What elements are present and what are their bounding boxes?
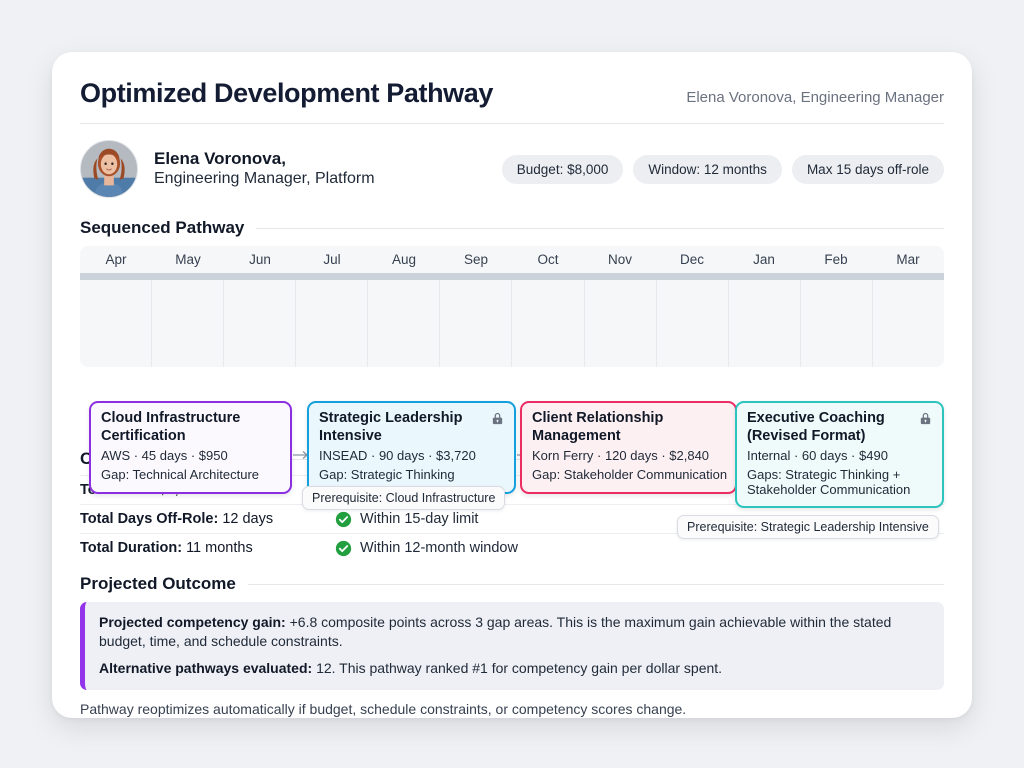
gridline [152, 280, 224, 367]
gridline [873, 280, 944, 367]
timeline: AprMayJunJulAugSepOctNovDecJanFebMar Clo… [80, 246, 944, 367]
course-card[interactable]: Client Relationship ManagementKorn Ferry… [520, 401, 737, 494]
course-title: Cloud Infrastructure Certification [101, 410, 280, 445]
course-meta: Korn Ferry · 120 days · $2,840 [532, 448, 725, 464]
month-label-nov: Nov [584, 246, 656, 273]
lock-icon [918, 411, 933, 426]
pathway-heading: Sequenced Pathway [80, 218, 244, 238]
constraint-label: Total Days Off-Role: 12 days [80, 511, 335, 527]
month-label-dec: Dec [656, 246, 728, 273]
course-card[interactable]: Executive Coaching (Revised Format)Inter… [735, 401, 944, 508]
gridline [585, 280, 657, 367]
course-title: Strategic Leadership Intensive [319, 410, 504, 445]
course-title: Client Relationship Management [532, 410, 725, 445]
gridline [657, 280, 729, 367]
header-divider [80, 123, 944, 124]
course-gap: Gaps: Strategic Thinking + Stakeholder C… [747, 467, 932, 499]
month-label-sep: Sep [440, 246, 512, 273]
outcome-heading: Projected Outcome [80, 574, 236, 594]
month-label-apr: Apr [80, 246, 152, 273]
prerequisite-pill: Prerequisite: Cloud Infrastructure [302, 486, 505, 510]
timeline-gridlines [80, 280, 944, 367]
month-label-feb: Feb [800, 246, 872, 273]
timeline-track [80, 273, 944, 280]
constraint-label: Total Duration: 11 months [80, 540, 335, 556]
prerequisite-pill: Prerequisite: Strategic Leadership Inten… [677, 515, 939, 539]
constraint-status-text: Within 12-month window [360, 540, 518, 556]
outcome-panel: Projected competency gain: +6.8 composit… [80, 602, 944, 690]
chip-budget: Budget: $8,000 [502, 155, 624, 184]
outcome-gain-label: Projected competency gain: [99, 614, 286, 630]
user-avatar-photo-icon [81, 141, 137, 197]
gridline [80, 280, 152, 367]
lock-icon [490, 411, 505, 426]
constraint-chips: Budget: $8,000 Window: 12 months Max 15 … [502, 155, 944, 184]
chip-max-days: Max 15 days off-role [792, 155, 944, 184]
person-name: Elena Voronova, [154, 148, 375, 169]
month-label-may: May [152, 246, 224, 273]
outcome-gain: Projected competency gain: +6.8 composit… [99, 613, 930, 652]
course-gap: Gap: Technical Architecture [101, 467, 280, 483]
course-meta: INSEAD · 90 days · $3,720 [319, 448, 504, 464]
pathway-heading-rule [256, 228, 944, 229]
course-title: Executive Coaching (Revised Format) [747, 410, 932, 445]
outcome-footer-note: Pathway reoptimizes automatically if bud… [80, 701, 944, 717]
course-card[interactable]: Cloud Infrastructure CertificationAWS · … [89, 401, 292, 494]
outcome-alt-label: Alternative pathways evaluated: [99, 660, 312, 676]
page-header: Optimized Development Pathway Elena Voro… [80, 78, 944, 109]
check-circle-icon [335, 511, 352, 528]
gridline [512, 280, 584, 367]
gridline [368, 280, 440, 367]
gridline [296, 280, 368, 367]
timeline-month-labels: AprMayJunJulAugSepOctNovDecJanFebMar [80, 246, 944, 273]
outcome-alternatives: Alternative pathways evaluated: 12. This… [99, 659, 930, 678]
person-role: Engineering Manager, Platform [154, 169, 375, 190]
month-label-mar: Mar [872, 246, 944, 273]
outcome-section-header: Projected Outcome [80, 574, 944, 594]
gridline [224, 280, 296, 367]
person-row: Elena Voronova, Engineering Manager, Pla… [80, 140, 944, 198]
month-label-jul: Jul [296, 246, 368, 273]
gridline [801, 280, 873, 367]
chip-window: Window: 12 months [633, 155, 782, 184]
course-gap: Gap: Strategic Thinking [319, 467, 504, 483]
page-title: Optimized Development Pathway [80, 78, 493, 109]
course-card[interactable]: Strategic Leadership IntensiveINSEAD · 9… [307, 401, 516, 494]
constraint-status-text: Within 15-day limit [360, 511, 478, 527]
outcome-alt-value: 12. This pathway ranked #1 for competenc… [312, 660, 722, 676]
avatar [80, 140, 138, 198]
gridline [729, 280, 801, 367]
month-label-jan: Jan [728, 246, 800, 273]
month-label-jun: Jun [224, 246, 296, 273]
check-circle-icon [335, 540, 352, 557]
pathway-section-header: Sequenced Pathway [80, 218, 944, 238]
timeline-grid: AprMayJunJulAugSepOctNovDecJanFebMar [80, 246, 944, 367]
constraint-status: Within 12-month window [335, 540, 518, 557]
constraint-status: Within 15-day limit [335, 511, 478, 528]
report-card: Optimized Development Pathway Elena Voro… [52, 52, 972, 718]
header-subject: Elena Voronova, Engineering Manager [686, 89, 944, 106]
gridline [440, 280, 512, 367]
course-gap: Gap: Stakeholder Communication [532, 467, 725, 483]
course-meta: Internal · 60 days · $490 [747, 448, 932, 464]
outcome-heading-rule [248, 584, 944, 585]
course-meta: AWS · 45 days · $950 [101, 448, 280, 464]
month-label-aug: Aug [368, 246, 440, 273]
month-label-oct: Oct [512, 246, 584, 273]
